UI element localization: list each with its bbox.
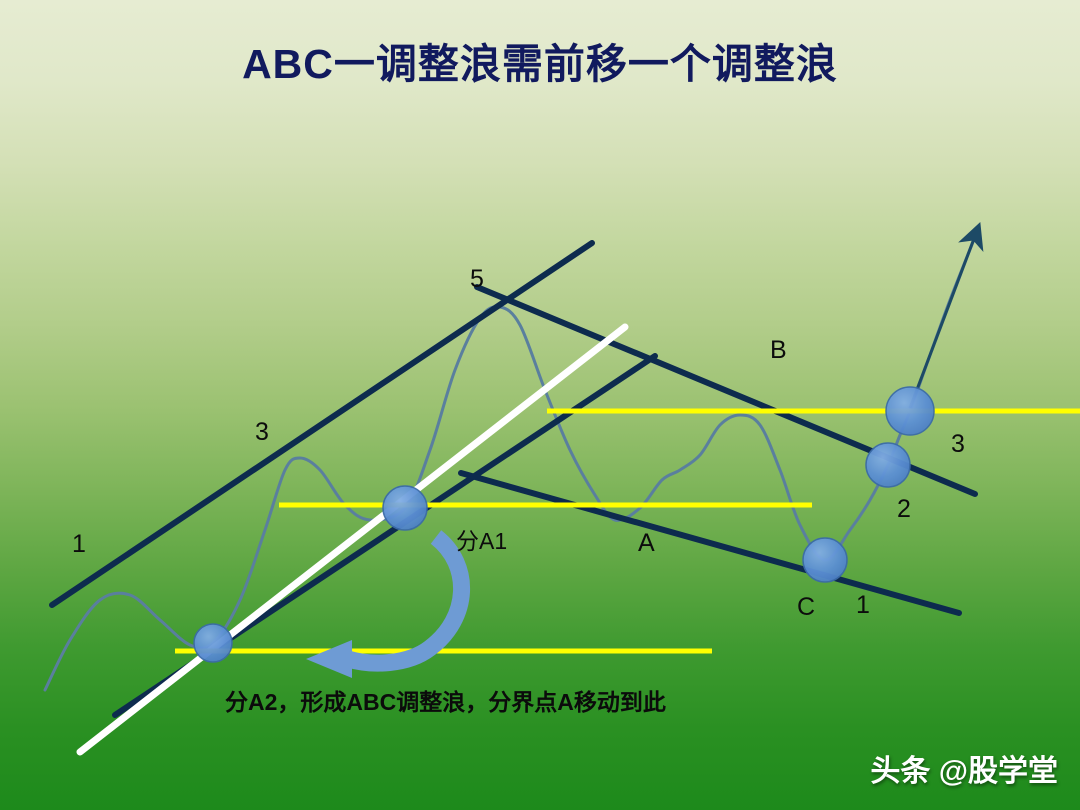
marker-wave-3	[886, 387, 934, 435]
label-wave-2-right: 2	[897, 497, 911, 522]
bottom-caption: 分A2，形成ABC调整浪，分界点A移动到此	[225, 683, 666, 717]
wave-curve	[45, 237, 975, 690]
label-point-c: C	[797, 595, 815, 620]
marker-fen-a1	[383, 486, 427, 530]
watermark: 头条 @股学堂	[870, 746, 1058, 790]
marker-fen-a2	[194, 624, 232, 662]
marker-wave-2	[866, 443, 910, 487]
label-point-fen-a1: 分A1	[456, 530, 507, 553]
label-point-b: B	[770, 338, 787, 363]
marker-c	[803, 538, 847, 582]
label-wave-3-left: 3	[255, 420, 269, 445]
breakout-arrow-group	[910, 236, 975, 408]
slide-canvas: ABC一调整浪需前移一个调整浪 135分A1ABC123 分A2，形成ABC调整…	[0, 0, 1080, 810]
label-point-a: A	[638, 531, 655, 556]
trend-upper-rising	[52, 243, 592, 605]
label-wave-3-right: 3	[951, 432, 965, 457]
highlight-line-group	[175, 411, 1080, 651]
label-wave-1-right: 1	[856, 593, 870, 618]
label-wave-1-left: 1	[72, 532, 86, 557]
breakout-arrow	[910, 236, 975, 408]
trend-falling-lower	[461, 473, 959, 613]
label-wave-5-peak: 5	[470, 267, 484, 292]
